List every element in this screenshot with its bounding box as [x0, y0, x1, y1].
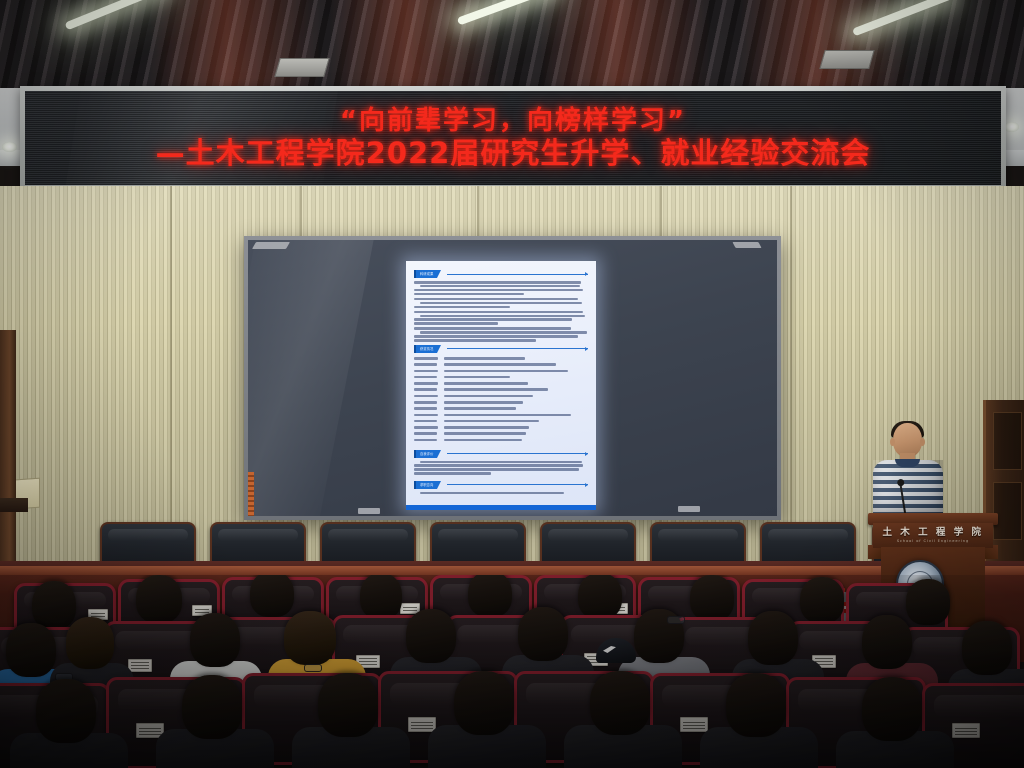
audience-member [284, 611, 336, 665]
led-banner-line2: —土木工程学院2022届研究生升学、就业经验交流会 [156, 136, 871, 170]
door-left[interactable] [0, 330, 16, 572]
slide-award-list [414, 356, 588, 443]
downlight-1 [2, 142, 17, 152]
audience-member [468, 575, 512, 617]
screen-side-strip [248, 472, 254, 516]
audience-member [454, 671, 514, 735]
slide-section-label: 获奖情况 [420, 345, 434, 353]
slide-section-label: 自我评价 [420, 450, 434, 458]
audience-member [66, 617, 114, 669]
speaker-striped-shirt [873, 460, 943, 520]
audience-member [962, 621, 1012, 675]
audience-member [518, 607, 568, 661]
speaker-at-podium [871, 423, 945, 519]
audience [0, 575, 1024, 768]
ceiling [0, 0, 1024, 92]
seat-number-plate [680, 717, 708, 732]
audience-member [318, 673, 378, 737]
slide-section-label: 科研成果 [420, 270, 434, 278]
ceiling-vent-left [274, 58, 329, 77]
auditorium-photo: “向前辈学习，向榜样学习” —土木工程学院2022届研究生升学、就业经验交流会 [0, 0, 1024, 768]
slide-section-header: 科研成果 [414, 270, 588, 278]
audience-member [6, 623, 56, 677]
audience-member [906, 579, 950, 625]
speaker-head [893, 423, 922, 457]
audience-member [182, 675, 242, 739]
presentation-slide: 科研成果 [406, 261, 596, 509]
audience-member [690, 575, 734, 621]
audience-member [32, 581, 76, 629]
glasses [667, 616, 685, 624]
glasses [304, 664, 322, 672]
audience-member [136, 575, 182, 623]
audience-member [406, 609, 456, 663]
slide-section-header: 自我评价 [414, 450, 588, 458]
downlight-6 [1004, 122, 1019, 132]
podium-sign-cn: 土 木 工 程 学 院 [882, 527, 983, 538]
audience-member [862, 677, 922, 741]
audience-member [748, 611, 798, 665]
audience-member [590, 671, 650, 735]
audience-member [36, 679, 96, 743]
led-banner: “向前辈学习，向榜样学习” —土木工程学院2022届研究生升学、就业经验交流会 [20, 86, 1006, 190]
slide-section-label: 求职意向 [420, 481, 434, 489]
slide-section-header: 求职意向 [414, 481, 588, 489]
projection-screen: 科研成果 [244, 236, 781, 520]
audience-member [250, 575, 294, 617]
seat-number-plate [128, 659, 152, 672]
audience-member [726, 673, 786, 737]
door-left-handle[interactable] [0, 498, 28, 512]
led-banner-line1: “向前辈学习，向榜样学习” [340, 106, 686, 136]
seat-number-plate [952, 723, 980, 738]
slide-footer-bar [406, 505, 596, 510]
podium-sign-en: School of Civil Engineering [897, 538, 969, 544]
slide-section-header: 获奖情况 [414, 345, 588, 353]
audience-member [862, 615, 912, 669]
audience-member [360, 575, 402, 619]
seat-number-plate [408, 717, 436, 732]
audience-member [190, 613, 240, 667]
audience-member [800, 577, 844, 623]
ceiling-vent-right [819, 50, 874, 69]
audience-member [578, 575, 622, 619]
